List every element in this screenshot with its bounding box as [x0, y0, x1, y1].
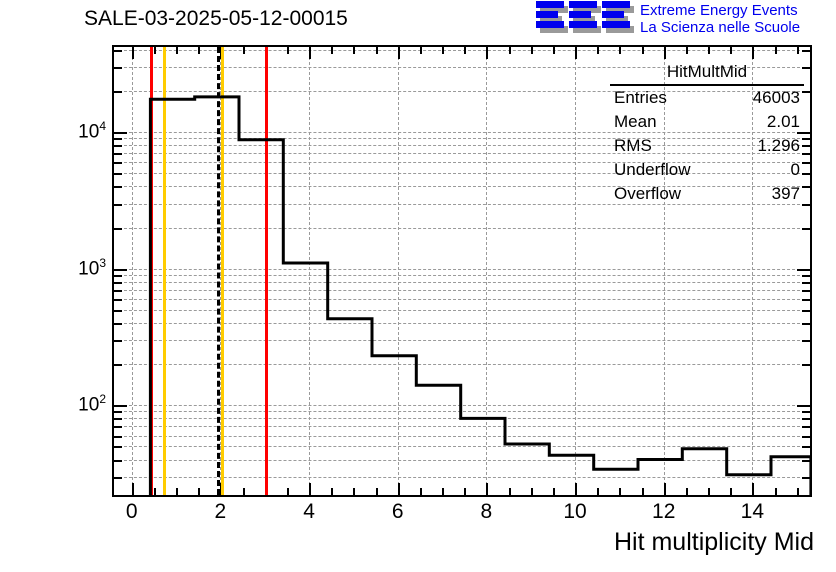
- x-tick-label: 10: [555, 500, 595, 524]
- eee-logo: Extreme Energy Events La Scienza nelle S…: [536, 0, 836, 40]
- logo-line-2: La Scienza nelle Scuole: [640, 19, 800, 36]
- y-tick-label: 10: [78, 121, 99, 142]
- x-tick-label: 0: [112, 500, 152, 524]
- y-tick-label: 10: [78, 395, 99, 416]
- y-tick-exponent: 4: [99, 119, 106, 133]
- stats-key: Entries: [614, 88, 667, 108]
- x-tick-label: 4: [289, 500, 329, 524]
- x-tick-label: 2: [200, 500, 240, 524]
- stats-box: HitMultMid Entries46003Mean2.01RMS1.296U…: [604, 62, 810, 210]
- eee-letter-bar: [569, 1, 597, 8]
- eee-letter-bar: [602, 11, 624, 18]
- stats-value: 397: [772, 184, 800, 204]
- x-tick-label: 6: [378, 500, 418, 524]
- stats-value: 46003: [753, 88, 800, 108]
- stats-key: RMS: [614, 136, 652, 156]
- eee-letter-bar: [602, 21, 630, 28]
- eee-letter-bar: [536, 21, 564, 28]
- y-tick-exponent: 3: [99, 256, 106, 270]
- stats-key: Underflow: [614, 160, 691, 180]
- x-tick-label: 12: [644, 500, 684, 524]
- stats-row: RMS1.296: [610, 136, 804, 158]
- page-title: SALE-03-2025-05-12-00015: [84, 7, 348, 31]
- stats-title: HitMultMid: [604, 62, 810, 82]
- y-tick-label: 10: [78, 258, 99, 279]
- eee-logo-mark: [536, 1, 636, 33]
- stats-divider: [610, 84, 804, 86]
- y-tick-exponent: 2: [99, 392, 106, 406]
- stats-key: Mean: [614, 112, 657, 132]
- eee-letter: [536, 1, 564, 31]
- logo-line-1: Extreme Energy Events: [640, 2, 798, 19]
- eee-letter: [602, 1, 630, 31]
- eee-letter-bar: [569, 11, 591, 18]
- eee-letter-bar: [602, 1, 630, 8]
- stats-key: Overflow: [614, 184, 681, 204]
- plot-canvas: SALE-03-2025-05-12-00015 Extreme Energy …: [0, 0, 836, 572]
- eee-letter-bar: [536, 1, 564, 8]
- x-axis-title: Hit multiplicity Mid: [614, 528, 814, 557]
- stats-row: Entries46003: [610, 88, 804, 110]
- eee-letter-bar: [536, 11, 558, 18]
- stats-value: 1.296: [757, 136, 800, 156]
- stats-row: Underflow0: [610, 160, 804, 182]
- stats-value: 0: [791, 160, 800, 180]
- stats-row: Mean2.01: [610, 112, 804, 134]
- stats-value: 2.01: [767, 112, 800, 132]
- eee-letter: [569, 1, 597, 31]
- x-tick-label: 8: [466, 500, 506, 524]
- eee-letter-bar: [569, 21, 597, 28]
- stats-row: Overflow397: [610, 184, 804, 206]
- x-tick-label: 14: [732, 500, 772, 524]
